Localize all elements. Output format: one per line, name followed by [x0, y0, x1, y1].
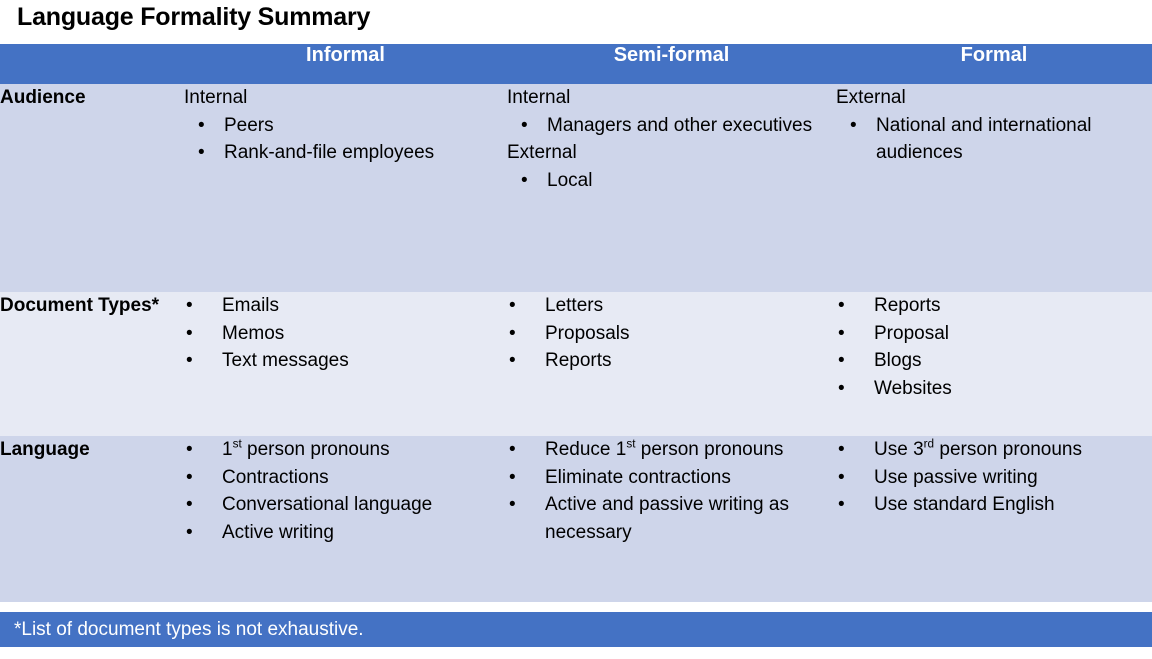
cell-audience-informal: Internal PeersRank-and-file employees: [184, 84, 507, 292]
bullet-list: LettersProposalsReports: [507, 292, 836, 375]
cell-language-semi-formal: Reduce 1st person pronounsEliminate cont…: [507, 436, 836, 602]
bullet-list: EmailsMemosText messages: [184, 292, 507, 375]
bullet-item: Letters: [507, 292, 836, 320]
cell-audience-semi-formal: Internal Managers and other executives E…: [507, 84, 836, 292]
table-row-audience: Audience Internal PeersRank-and-file emp…: [0, 84, 1152, 292]
bullet-item: Active and passive writing as necessary: [507, 491, 836, 546]
bullet-list: Reduce 1st person pronounsEliminate cont…: [507, 436, 836, 547]
header-informal: Informal: [184, 44, 507, 84]
bullet-item: 1st person pronouns: [184, 436, 507, 464]
bullet-item: National and international audiences: [836, 112, 1152, 167]
bullet-item: Emails: [184, 292, 507, 320]
header-semi-formal: Semi-formal: [507, 44, 836, 84]
bullet-item: Proposals: [507, 320, 836, 348]
bullet-list: PeersRank-and-file employees: [184, 112, 507, 167]
lead-text: Internal: [184, 84, 507, 112]
bullet-item: Use passive writing: [836, 464, 1152, 492]
bullet-item: Eliminate contractions: [507, 464, 836, 492]
bullet-item: Contractions: [184, 464, 507, 492]
lead-text: External: [836, 84, 1152, 112]
bullet-list: Use 3rd person pronounsUse passive writi…: [836, 436, 1152, 519]
table-row-language: Language 1st person pronounsContractions…: [0, 436, 1152, 602]
bullet-item: Websites: [836, 375, 1152, 403]
bullet-list: ReportsProposalBlogsWebsites: [836, 292, 1152, 403]
footnote-bar: *List of document types is not exhaustiv…: [0, 612, 1152, 647]
bullet-list: Managers and other executives: [507, 112, 836, 140]
bullet-item: Use standard English: [836, 491, 1152, 519]
row-label-document-types: Document Types*: [0, 292, 184, 436]
cell-doctypes-informal: EmailsMemosText messages: [184, 292, 507, 436]
row-label-language: Language: [0, 436, 184, 602]
bullet-item: Memos: [184, 320, 507, 348]
bullet-item: Reports: [836, 292, 1152, 320]
bullet-item: Rank-and-file employees: [184, 139, 507, 167]
bullet-list: 1st person pronounsContractionsConversat…: [184, 436, 507, 547]
bullet-item: Local: [507, 167, 836, 195]
bullet-list-secondary: Local: [507, 167, 836, 195]
bullet-item: Managers and other executives: [507, 112, 836, 140]
bullet-item: Conversational language: [184, 491, 507, 519]
table-row-document-types: Document Types* EmailsMemosText messages…: [0, 292, 1152, 436]
slide-canvas: Language Formality Summary Informal Semi…: [0, 0, 1152, 659]
cell-doctypes-semi-formal: LettersProposalsReports: [507, 292, 836, 436]
bullet-item: Reports: [507, 347, 836, 375]
page-title: Language Formality Summary: [17, 3, 370, 32]
bullet-item: Blogs: [836, 347, 1152, 375]
header-corner: [0, 44, 184, 84]
bullet-item: Text messages: [184, 347, 507, 375]
cell-language-informal: 1st person pronounsContractionsConversat…: [184, 436, 507, 602]
bullet-item: Proposal: [836, 320, 1152, 348]
formality-table: Informal Semi-formal Formal Audience Int…: [0, 44, 1152, 602]
table-header-row: Informal Semi-formal Formal: [0, 44, 1152, 84]
lead-text-secondary: External: [507, 139, 836, 167]
row-label-audience: Audience: [0, 84, 184, 292]
bullet-item: Active writing: [184, 519, 507, 547]
bullet-item: Use 3rd person pronouns: [836, 436, 1152, 464]
bullet-item: Peers: [184, 112, 507, 140]
header-formal: Formal: [836, 44, 1152, 84]
lead-text: Internal: [507, 84, 836, 112]
bullet-list: National and international audiences: [836, 112, 1152, 167]
cell-language-formal: Use 3rd person pronounsUse passive writi…: [836, 436, 1152, 602]
cell-doctypes-formal: ReportsProposalBlogsWebsites: [836, 292, 1152, 436]
bullet-item: Reduce 1st person pronouns: [507, 436, 836, 464]
cell-audience-formal: External National and international audi…: [836, 84, 1152, 292]
